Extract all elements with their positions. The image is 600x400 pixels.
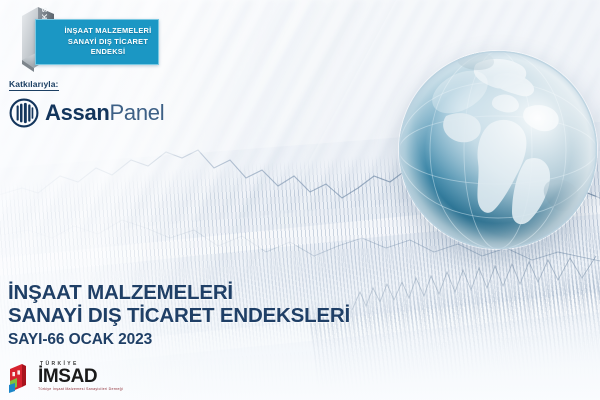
- report-cover: ENDEKS İNŞAAT MALZEMELERİ SANAYİ DIŞ TİC…: [0, 0, 600, 400]
- banner: İNŞAAT MALZEMELERİ SANAYİ DIŞ TİCARET EN…: [35, 19, 159, 65]
- imsad-tagline: Türkiye İnşaat Malzemesi Sanayicileri De…: [38, 387, 123, 392]
- assanpanel-wordmark: AssanPanel: [45, 102, 164, 124]
- imsad-main-word: İMSAD: [38, 367, 123, 386]
- assanpanel-logo: AssanPanel: [9, 98, 199, 128]
- banner-line-2: SANAYİ DIŞ TİCARET: [68, 37, 148, 47]
- banner-line-1: İNŞAAT MALZEMELERİ: [65, 26, 152, 36]
- imsad-logo: TÜRKİYE İMSAD Türkiye İnşaat Malzemesi S…: [8, 361, 123, 393]
- glass-globe-icon: [398, 50, 598, 250]
- title-line-2: SANAYİ DIŞ TİCARET ENDEKSLERİ: [8, 304, 428, 327]
- imsad-wordmark: TÜRKİYE İMSAD Türkiye İnşaat Malzemesi S…: [38, 361, 123, 392]
- banner-line-3: ENDEKSİ: [91, 47, 126, 57]
- panel-word-regular: Panel: [110, 100, 165, 125]
- issue-line: SAYI-66 OCAK 2023: [8, 330, 428, 350]
- assan-word-bold: Assan: [45, 100, 110, 125]
- page-title: İNŞAAT MALZEMELERİ SANAYİ DIŞ TİCARET EN…: [8, 281, 428, 350]
- sponsor-block: Katkılarıyla: AssanPanel: [9, 74, 199, 128]
- sponsor-label: Katkılarıyla:: [9, 79, 59, 91]
- assan-circle-icon: [9, 98, 39, 128]
- title-line-1: İNŞAAT MALZEMELERİ: [8, 281, 428, 304]
- imsad-building-icon: [8, 363, 34, 393]
